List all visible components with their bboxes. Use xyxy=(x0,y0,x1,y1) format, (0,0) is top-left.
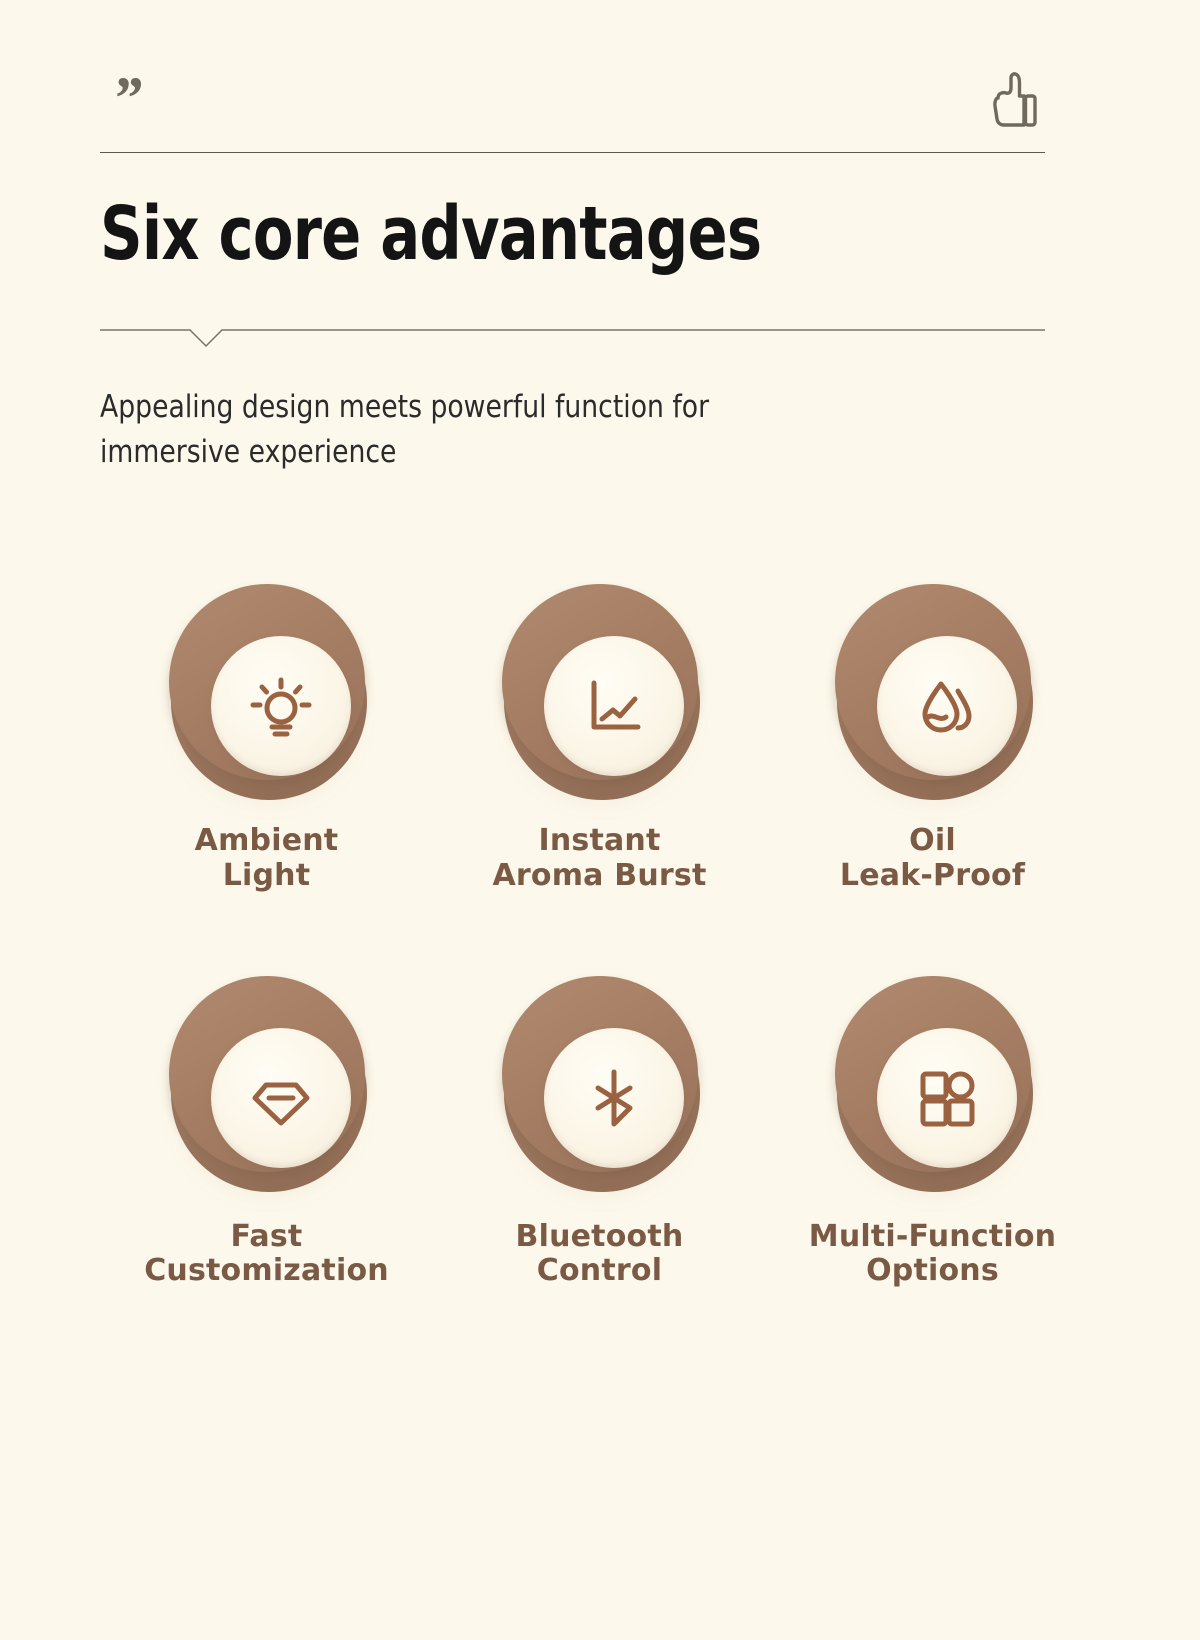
feature-label: Instant Aroma Burst xyxy=(493,824,707,894)
header-divider xyxy=(100,152,1045,153)
feature-card-ambient-light[interactable]: Ambient Light xyxy=(100,560,433,894)
feature-badge xyxy=(821,560,1045,810)
feature-card-instant-aroma-burst[interactable]: Instant Aroma Burst xyxy=(433,560,766,894)
feature-card-bluetooth-control[interactable]: Bluetooth Control xyxy=(433,952,766,1290)
badge-ring xyxy=(169,584,365,780)
feature-label: Ambient Light xyxy=(195,824,339,894)
feature-label: Multi-Function Options xyxy=(809,1220,1056,1290)
feature-badge xyxy=(155,952,379,1202)
features-row-2: Fast Customization xyxy=(100,952,1100,1290)
bluetooth-icon xyxy=(544,1028,684,1168)
quotation-mark-icon: ” xyxy=(112,68,138,128)
feature-card-fast-customization[interactable]: Fast Customization xyxy=(100,952,433,1290)
lightbulb-icon xyxy=(211,636,351,776)
badge-ring xyxy=(835,976,1031,1172)
feature-badge xyxy=(488,560,712,810)
water-drops-icon xyxy=(877,636,1017,776)
line-chart-icon xyxy=(544,636,684,776)
page-subtitle: Appealing design meets powerful function… xyxy=(100,385,779,474)
feature-badge xyxy=(488,952,712,1202)
feature-badge xyxy=(821,952,1045,1202)
badge-ring xyxy=(502,584,698,780)
feature-label: Bluetooth Control xyxy=(516,1220,684,1290)
feature-label: Oil Leak-Proof xyxy=(840,824,1025,894)
features-grid: Ambient Light Inst xyxy=(100,560,1100,1289)
thumbs-up-icon xyxy=(988,70,1040,132)
page-title: Six core advantages xyxy=(100,196,856,274)
badge-ring xyxy=(169,976,365,1172)
badge-ring xyxy=(835,584,1031,780)
page-header: ” xyxy=(100,60,1040,155)
feature-badge xyxy=(155,560,379,810)
badge-ring xyxy=(502,976,698,1172)
feature-card-multi-function-options[interactable]: Multi-Function Options xyxy=(766,952,1099,1290)
poster-page: ” Six core advantages Appealing design m… xyxy=(0,0,1200,1640)
title-divider xyxy=(100,316,1045,352)
features-row-1: Ambient Light Inst xyxy=(100,560,1100,894)
grid-options-icon xyxy=(877,1028,1017,1168)
feature-label: Fast Customization xyxy=(144,1220,389,1290)
diamond-gem-icon xyxy=(211,1028,351,1168)
feature-card-oil-leak-proof[interactable]: Oil Leak-Proof xyxy=(766,560,1099,894)
